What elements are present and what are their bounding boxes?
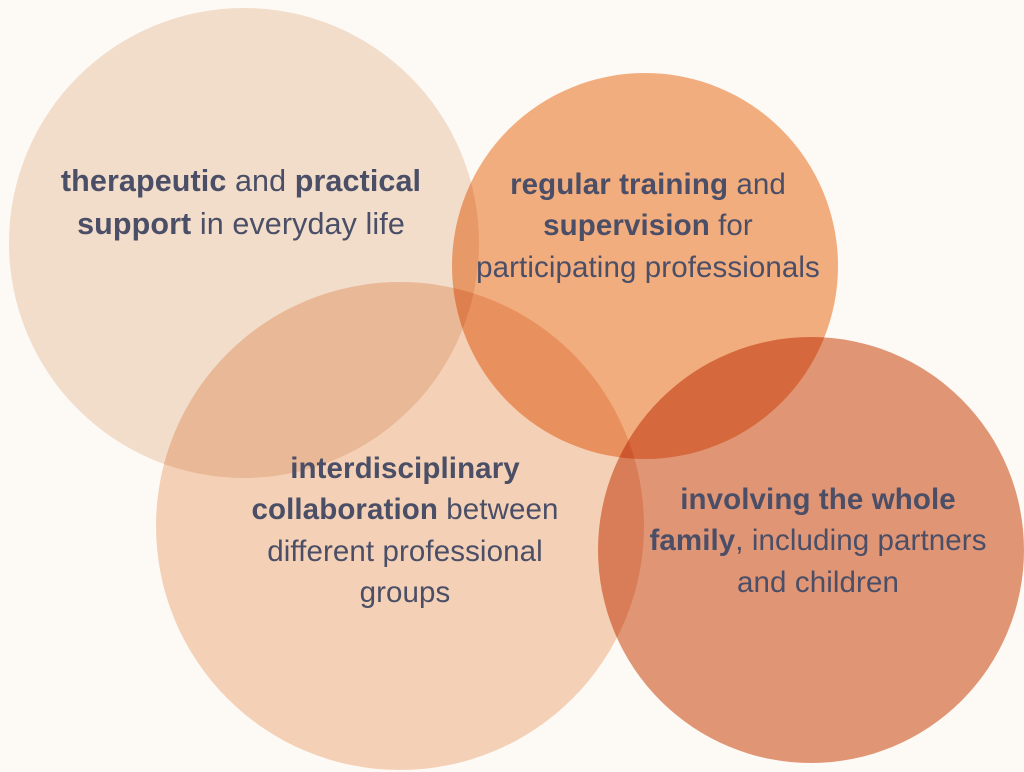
label-training-supervision: regular training and supervision for par… xyxy=(470,164,826,288)
infographic-canvas: therapeutic and practical support in eve… xyxy=(0,0,1024,772)
label-interdisciplinary-collaboration: interdisciplinary collaboration between … xyxy=(222,448,588,613)
label-whole-family: involving the whole family, including pa… xyxy=(638,479,998,603)
label-therapeutic-support: therapeutic and practical support in eve… xyxy=(12,160,470,247)
